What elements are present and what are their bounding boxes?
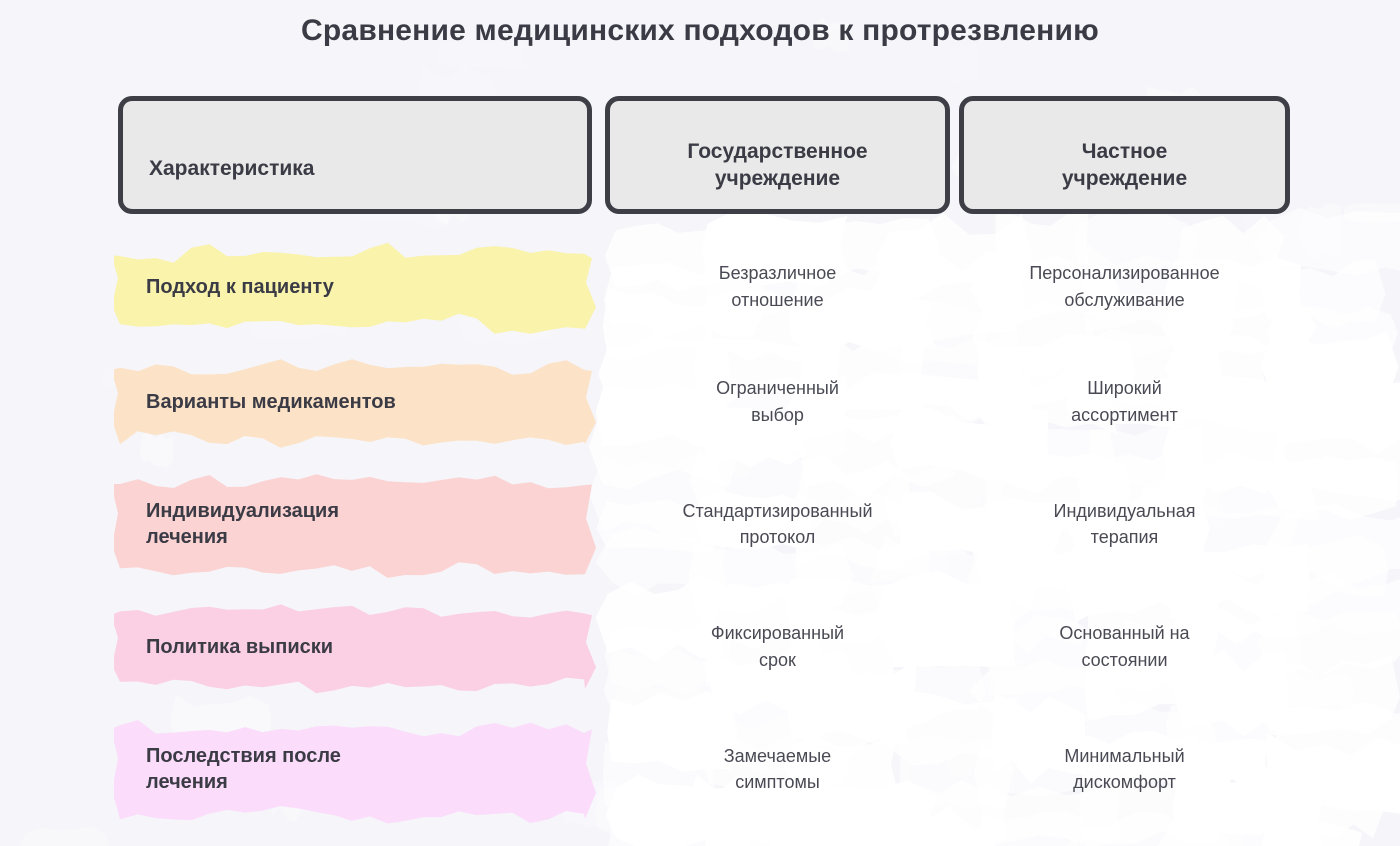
row-feature-cell: Подход к пациенту	[118, 229, 592, 344]
table-row: Индивидуализация лечения Стандартизирова…	[0, 459, 1400, 589]
row-feature-cell: Варианты медикаментов	[118, 344, 592, 459]
row-feature-label: Индивидуализация лечения	[118, 459, 592, 589]
table-row: Варианты медикаментов Ограниченный выбор…	[0, 344, 1400, 459]
row-feature-cell: Индивидуализация лечения	[118, 459, 592, 589]
header-cell-private: Частное учреждение	[959, 96, 1290, 220]
header-cell-feature: Характеристика	[118, 96, 592, 220]
table-row: Подход к пациенту Безразличное отношение…	[0, 229, 1400, 344]
header-box-feature: Характеристика	[118, 96, 592, 214]
row-feature-label: Последствия после лечения	[118, 704, 592, 834]
row-private-value: Минимальный дискомфорт	[959, 704, 1290, 834]
row-public-value: Фиксированный срок	[605, 589, 950, 704]
table-row: Политика выписки Фиксированный срок Осно…	[0, 589, 1400, 704]
row-public-cell: Ограниченный выбор	[605, 344, 950, 459]
row-public-cell: Безразличное отношение	[605, 229, 950, 344]
row-public-value: Замечаемые симптомы	[605, 704, 950, 834]
row-private-cell: Широкий ассортимент	[959, 344, 1290, 459]
comparison-table: Характеристика Государственное учреждени…	[0, 96, 1400, 834]
header-box-private: Частное учреждение	[959, 96, 1290, 214]
row-private-cell: Минимальный дискомфорт	[959, 704, 1290, 834]
row-private-value: Широкий ассортимент	[959, 344, 1290, 459]
row-public-cell: Замечаемые симптомы	[605, 704, 950, 834]
row-public-cell: Фиксированный срок	[605, 589, 950, 704]
row-feature-label: Политика выписки	[118, 589, 592, 704]
row-private-value: Основанный на состоянии	[959, 589, 1290, 704]
header-label-private: Частное учреждение	[1062, 139, 1187, 193]
row-public-value: Безразличное отношение	[605, 229, 950, 344]
header-box-public: Государственное учреждение	[605, 96, 950, 214]
table-header-row: Характеристика Государственное учреждени…	[0, 96, 1400, 220]
row-public-value: Ограниченный выбор	[605, 344, 950, 459]
row-feature-cell: Последствия после лечения	[118, 704, 592, 834]
header-label-feature: Характеристика	[149, 156, 314, 183]
table-row: Последствия после лечения Замечаемые сим…	[0, 704, 1400, 834]
row-feature-cell: Политика выписки	[118, 589, 592, 704]
row-feature-label: Подход к пациенту	[118, 229, 592, 344]
page-title: Сравнение медицинских подходов к протрез…	[0, 14, 1400, 48]
row-public-value: Стандартизированный протокол	[605, 459, 950, 589]
header-label-public: Государственное учреждение	[687, 139, 867, 193]
header-cell-public: Государственное учреждение	[605, 96, 950, 220]
row-private-value: Индивидуальная терапия	[959, 459, 1290, 589]
row-private-cell: Основанный на состоянии	[959, 589, 1290, 704]
row-private-value: Персонализированное обслуживание	[959, 229, 1290, 344]
row-public-cell: Стандартизированный протокол	[605, 459, 950, 589]
row-feature-label: Варианты медикаментов	[118, 344, 592, 459]
row-private-cell: Персонализированное обслуживание	[959, 229, 1290, 344]
row-private-cell: Индивидуальная терапия	[959, 459, 1290, 589]
